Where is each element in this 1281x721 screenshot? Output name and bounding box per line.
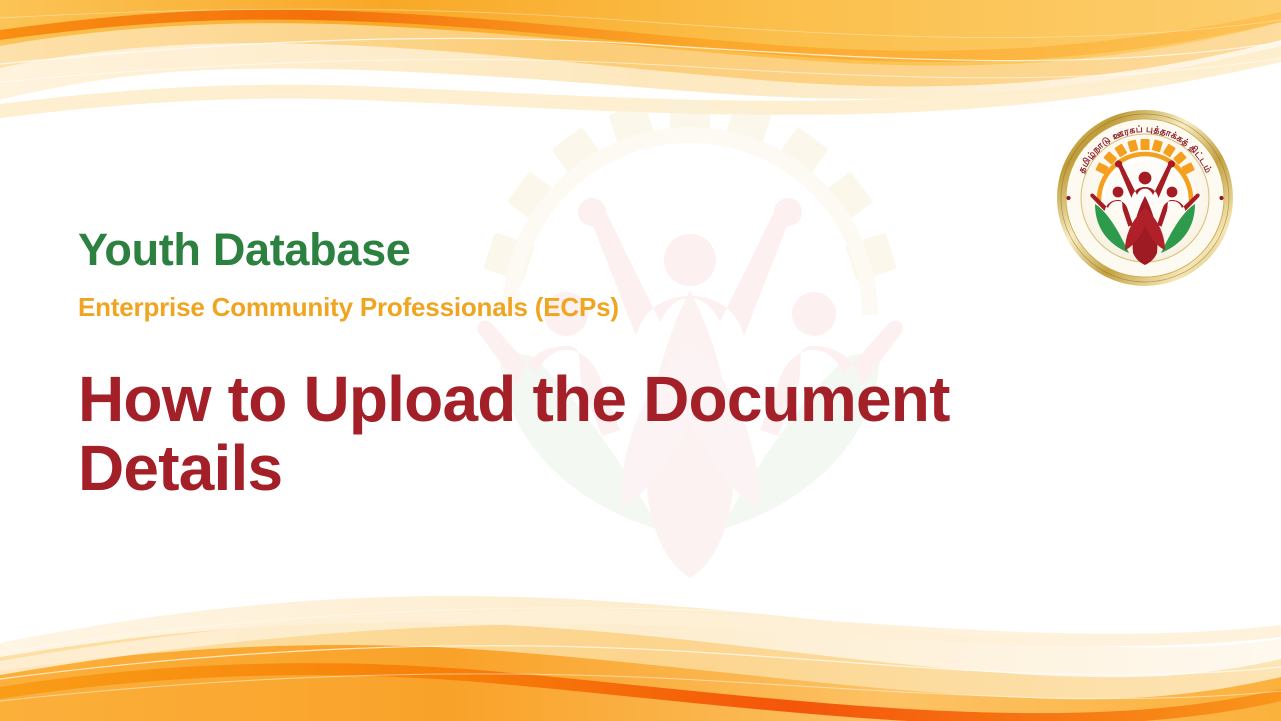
wave-thread-b1 bbox=[0, 646, 1281, 679]
wave-thread-b2 bbox=[0, 674, 1281, 701]
wave-band-strong bbox=[0, 0, 1281, 66]
tnrtp-logo: தமிழ்நாடு ஊரகப் புத்தாக்கத் திட்டம் TAMI… bbox=[1055, 108, 1235, 288]
figure-hand-left-icon bbox=[1115, 160, 1122, 167]
wave-edge-deep bbox=[0, 10, 1281, 62]
bottom-wave-svg bbox=[0, 561, 1281, 721]
figure-hand-right-icon bbox=[774, 198, 802, 226]
wave-thread-2 bbox=[0, 58, 1281, 82]
figure-hand-right-icon bbox=[1168, 160, 1175, 167]
logo-dot-left bbox=[1066, 196, 1070, 200]
tnrtp-logo-svg: தமிழ்நாடு ஊரகப் புத்தாக்கத் திட்டம் TAMI… bbox=[1055, 108, 1235, 288]
wave-thread-1 bbox=[0, 38, 1281, 64]
logo-dot-right bbox=[1219, 196, 1223, 200]
wave-edge-deep-b bbox=[0, 663, 1281, 721]
figure-head-left-icon bbox=[1113, 187, 1124, 198]
figure-head-center-icon bbox=[1139, 172, 1152, 185]
wave-band-strong-b bbox=[0, 645, 1281, 721]
page-subtitle: Enterprise Community Professionals (ECPs… bbox=[78, 293, 1078, 322]
page-title: Youth Database bbox=[78, 225, 1078, 275]
bottom-wave-decoration bbox=[0, 561, 1281, 721]
wave-thread-b3 bbox=[0, 608, 1281, 653]
figure-head-right-icon bbox=[1167, 187, 1178, 198]
wave-band-pale-b bbox=[0, 596, 1281, 721]
wave-thread-3 bbox=[0, 9, 1281, 37]
wave-band-pale bbox=[0, 0, 1281, 100]
figure-hand-left-icon bbox=[578, 198, 606, 226]
wave-band-mid bbox=[0, 0, 1281, 86]
wave-swoosh-light-b bbox=[0, 610, 1281, 675]
wave-band-mid-b bbox=[0, 622, 1281, 721]
slide-text-block: Youth Database Enterprise Community Prof… bbox=[78, 225, 1078, 503]
slide-canvas: தமிழ்நாடு ஊரகப் புத்தாக்கத் திட்டம் TAMI… bbox=[0, 0, 1281, 721]
slide-heading: How to Upload the Document Details bbox=[78, 365, 1068, 503]
